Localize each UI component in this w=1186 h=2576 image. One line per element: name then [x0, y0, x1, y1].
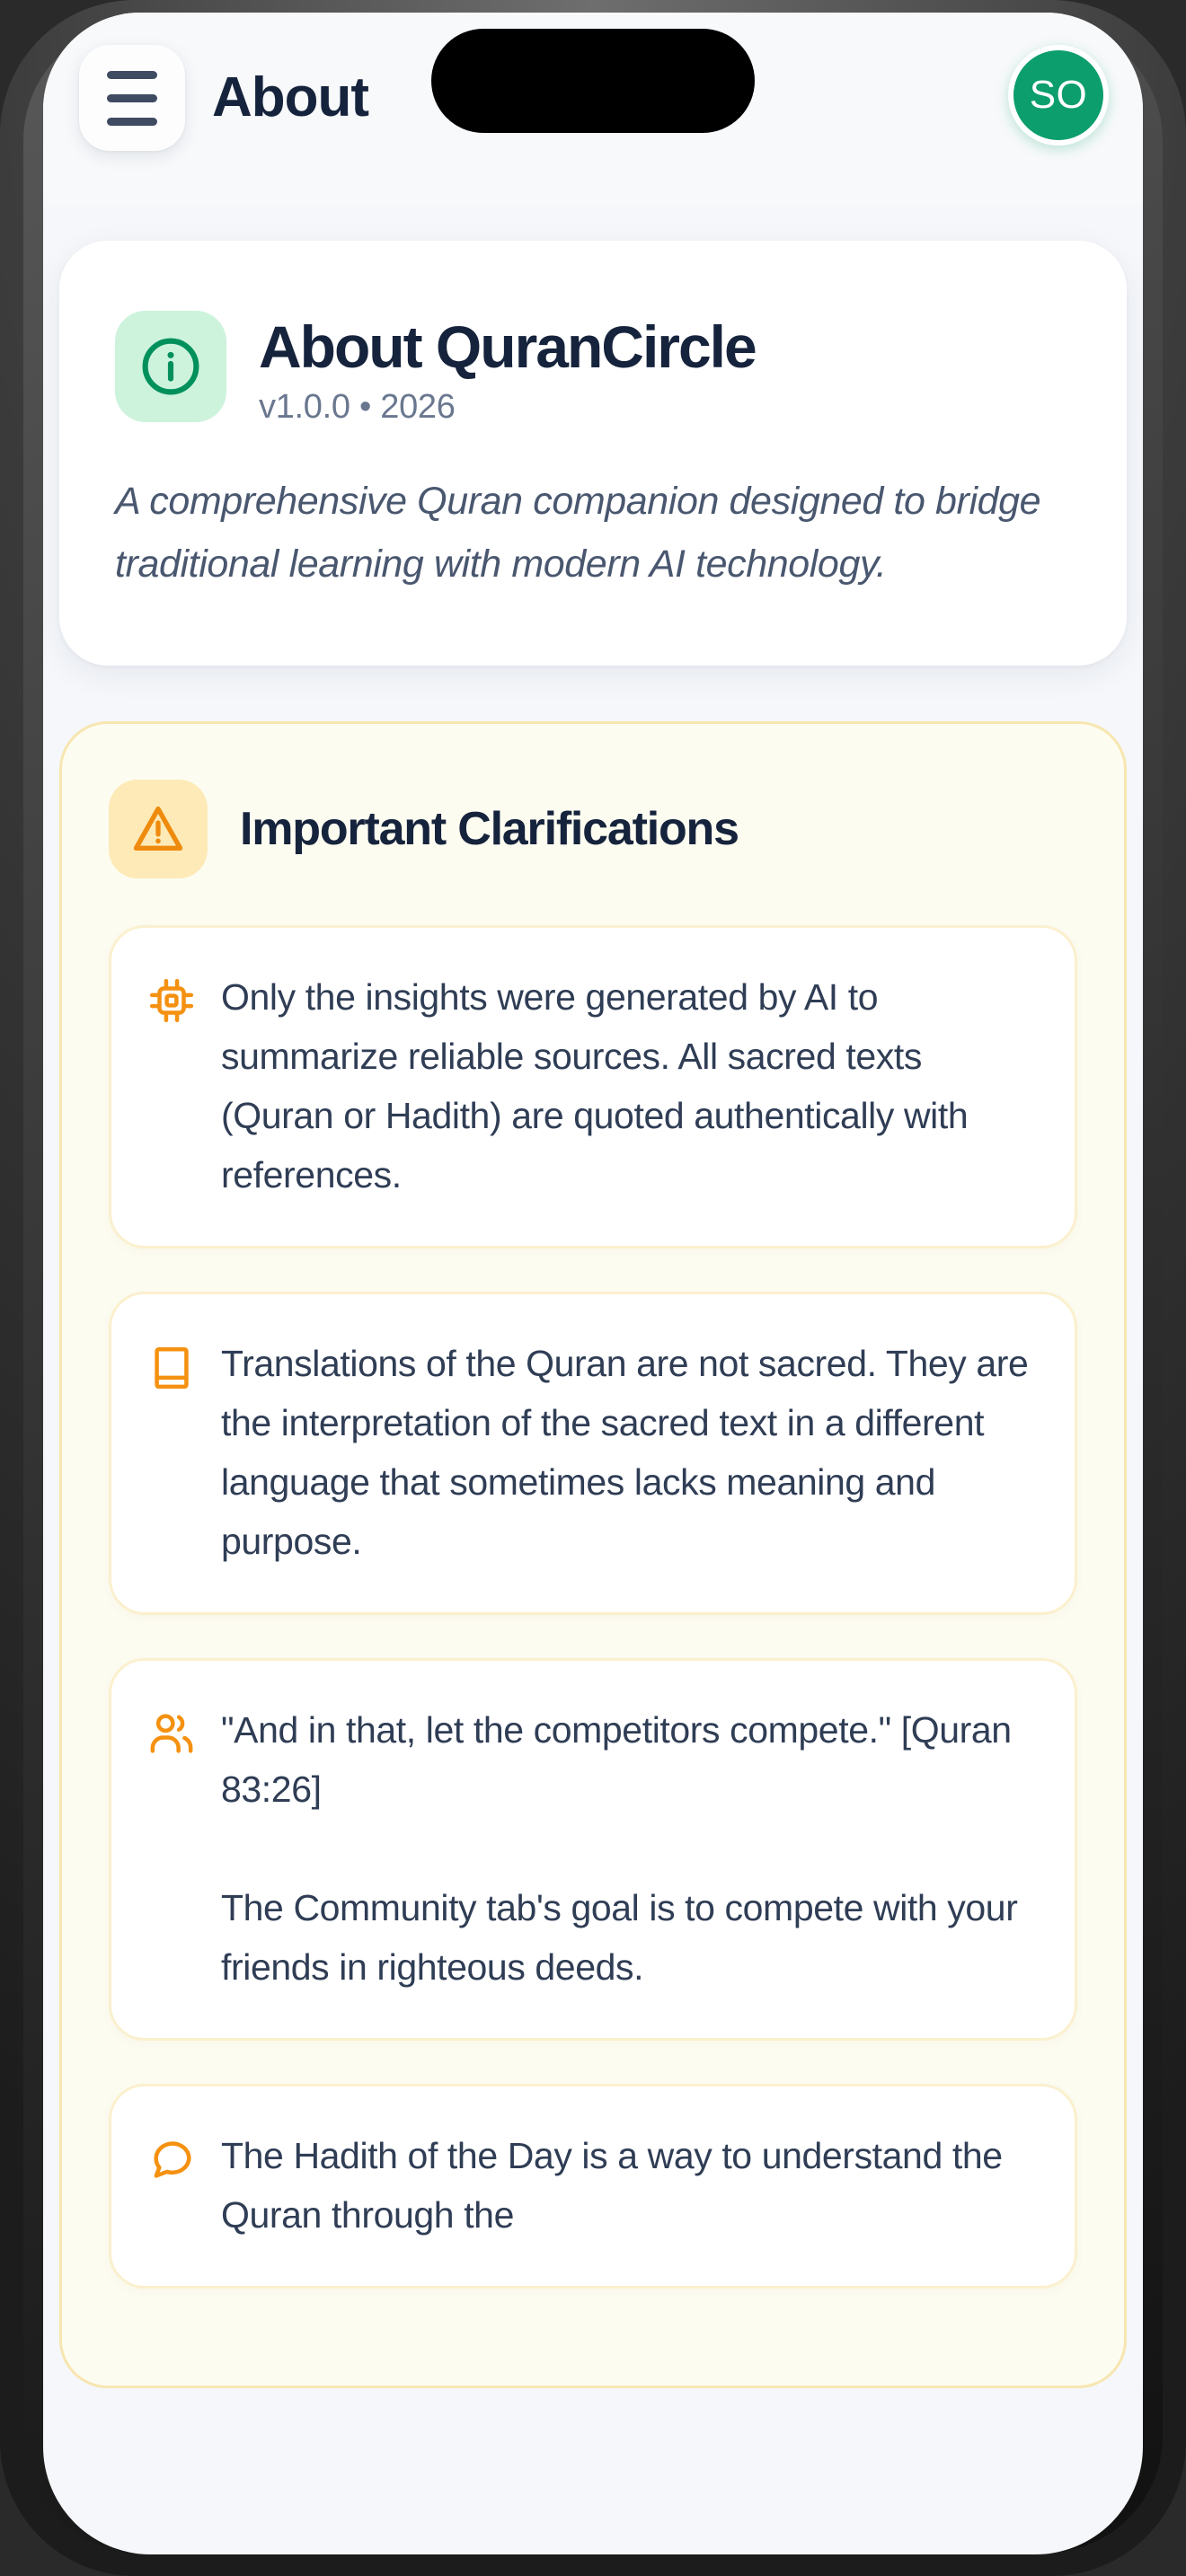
clarification-text: Only the insights were generated by AI t… [221, 967, 1033, 1204]
page-title: About [212, 59, 368, 137]
message-bubble-icon [147, 2135, 196, 2183]
users-icon [147, 1709, 196, 1758]
warning-triangle-icon [109, 780, 208, 878]
about-card: About QuranCircle v1.0.0 • 2026 A compre… [59, 241, 1127, 666]
hamburger-menu-icon-bar-2 [107, 94, 157, 102]
hamburger-menu-icon-bar-3 [107, 118, 157, 126]
clarification-text: Translations of the Quran are not sacred… [221, 1334, 1033, 1571]
user-avatar[interactable]: SO [1008, 45, 1109, 146]
avatar-initials: SO [1030, 73, 1088, 118]
book-icon [147, 1343, 196, 1391]
clarification-card: Only the insights were generated by AI t… [109, 925, 1077, 1248]
about-title: About QuranCircle [259, 309, 756, 384]
dynamic-island [431, 29, 755, 133]
clarification-card: "And in that, let the competitors compet… [109, 1658, 1077, 2041]
clarification-text: The Hadith of the Day is a way to unders… [221, 2126, 1033, 2245]
about-version: v1.0.0 • 2026 [259, 388, 756, 427]
clarification-card: The Hadith of the Day is a way to unders… [109, 2084, 1077, 2289]
hamburger-menu-icon-bar-1 [107, 71, 157, 79]
cpu-chip-icon [147, 976, 196, 1025]
phone-device-frame: About SO About Quran [0, 0, 1186, 2576]
info-circle-icon [115, 311, 226, 422]
important-clarifications-panel: Important Clarifications [59, 721, 1127, 2388]
phone-screen: About SO About Quran [43, 13, 1143, 2554]
about-card-titles: About QuranCircle v1.0.0 • 2026 [259, 305, 756, 427]
scroll-content[interactable]: About QuranCircle v1.0.0 • 2026 A compre… [43, 207, 1143, 2554]
hamburger-menu-button[interactable] [79, 45, 185, 151]
about-description: A comprehensive Quran companion designed… [115, 470, 1071, 595]
clarifications-header: Important Clarifications [109, 780, 1077, 878]
clarification-card: Translations of the Quran are not sacred… [109, 1292, 1077, 1615]
clarifications-title: Important Clarifications [240, 802, 739, 856]
clarification-text: "And in that, let the competitors compet… [221, 1700, 1033, 1997]
about-card-header: About QuranCircle v1.0.0 • 2026 [115, 305, 1071, 427]
